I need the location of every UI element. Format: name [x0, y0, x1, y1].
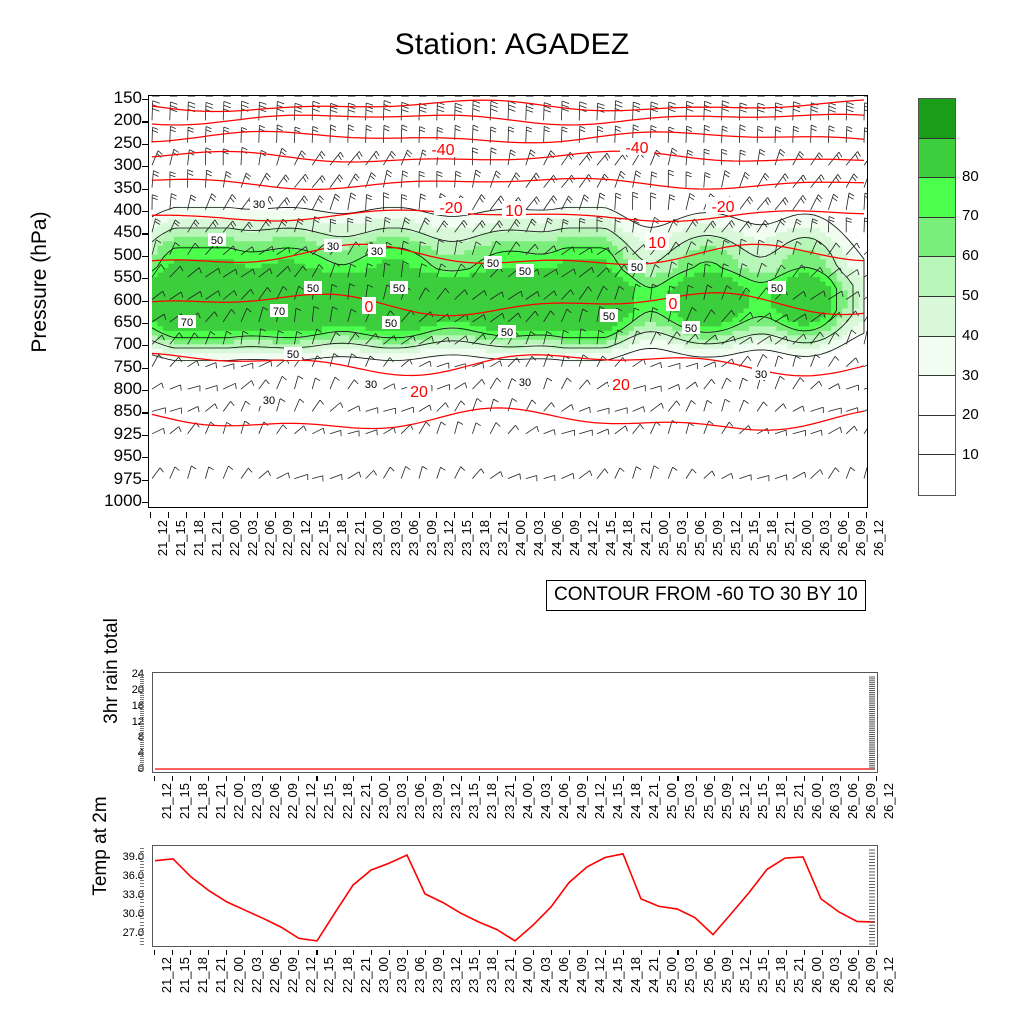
temp-minor-tickmark — [140, 854, 144, 855]
time-tickmark — [401, 512, 402, 518]
time-label-23_21: 23_21 — [502, 783, 517, 819]
time-label-22_09: 22_09 — [285, 957, 300, 993]
temp-minor-tickmark — [140, 851, 144, 852]
time-label-23_18: 23_18 — [484, 783, 499, 819]
rh-contour-label: 70 — [181, 317, 193, 329]
temp-minor-tickmark — [140, 886, 144, 887]
temp-tick-39.0: 39.0 — [108, 851, 144, 863]
time-tickmark — [222, 512, 223, 518]
main-y-axis-ticks: 1502002503003504004505005506006507007508… — [60, 95, 142, 508]
rain-minor-tickmark — [140, 691, 144, 692]
time-label-25_03: 25_03 — [674, 520, 689, 556]
time-label-26_06: 26_06 — [845, 957, 860, 993]
rh-contour-label: 30 — [327, 241, 339, 253]
rh-contour-label: 50 — [307, 283, 319, 295]
temp-minor-tickmark — [140, 896, 144, 897]
rain-panel[interactable] — [152, 672, 878, 773]
rh-contour-label: 50 — [385, 318, 397, 330]
time-tickmark — [190, 950, 191, 955]
time-label-25_06: 25_06 — [701, 957, 716, 993]
rain-minor-tickmark — [140, 709, 144, 710]
time-label-21_18: 21_18 — [195, 783, 210, 819]
rain-minor-tickmark — [140, 719, 144, 720]
temp-minor-tickmark — [140, 880, 144, 881]
rain-minor-tickmark — [140, 677, 144, 678]
colorbar-band-0 — [919, 455, 955, 495]
time-label-23_06: 23_06 — [412, 783, 427, 819]
pressure-tick-550: 550 — [60, 267, 142, 287]
temp-minor-tickmark — [140, 864, 144, 865]
colorbar-band-9 — [919, 99, 955, 139]
time-label-23_03: 23_03 — [394, 783, 409, 819]
cross-section-plot: 3050303050505050507070505050505050303030… — [149, 96, 867, 507]
rain-minor-tickmark — [140, 750, 144, 751]
time-tickmark — [389, 950, 390, 955]
time-tickmark — [569, 776, 570, 781]
time-label-25_12: 25_12 — [737, 783, 752, 819]
time-label-25_21: 25_21 — [791, 783, 806, 819]
temp-minor-tickmark — [140, 918, 144, 919]
time-label-23_21: 23_21 — [495, 520, 510, 556]
time-label-21_15: 21_15 — [177, 957, 192, 993]
time-label-24_00: 24_00 — [513, 520, 528, 556]
temp-minor-tickmark — [140, 941, 144, 942]
rain-minor-tickmark — [140, 715, 144, 716]
colorbar-band-2 — [919, 376, 955, 416]
rain-minor-tickmark — [140, 746, 144, 747]
time-label-25_09: 25_09 — [710, 520, 725, 556]
time-label-22_21: 22_21 — [358, 957, 373, 993]
upper-air-cross-section-panel[interactable]: 3050303050505050507070505050505050303030… — [148, 95, 868, 508]
time-tickmark — [633, 512, 634, 518]
time-label-24_03: 24_03 — [538, 957, 553, 993]
time-label-23_03: 23_03 — [388, 520, 403, 556]
time-tickmark — [768, 950, 769, 955]
colorbar-band-4 — [919, 297, 955, 337]
time-tickmark — [365, 512, 366, 518]
time-tickmark — [244, 950, 245, 955]
time-label-26_06: 26_06 — [835, 520, 850, 556]
time-tickmark — [696, 950, 697, 955]
rain-minor-tickmark — [140, 679, 144, 680]
time-label-22_06: 22_06 — [267, 957, 282, 993]
time-label-25_18: 25_18 — [764, 520, 779, 556]
time-tickmark — [335, 950, 336, 955]
time-label-25_15: 25_15 — [746, 520, 761, 556]
rh-contour-label: 70 — [273, 306, 285, 318]
rain-minor-tickmark — [140, 760, 144, 761]
time-label-22_12: 22_12 — [303, 957, 318, 993]
time-tickmark — [168, 512, 169, 518]
time-label-23_18: 23_18 — [477, 520, 492, 556]
time-label-22_18: 22_18 — [340, 957, 355, 993]
time-label-26_00: 26_00 — [799, 520, 814, 556]
time-tickmark — [280, 776, 281, 781]
temp-minor-tickmark — [140, 925, 144, 926]
time-tickmark — [786, 950, 787, 955]
time-tickmark — [353, 950, 354, 955]
time-label-24_21: 24_21 — [638, 520, 653, 556]
time-label-24_09: 24_09 — [574, 957, 589, 993]
time-label-25_21: 25_21 — [791, 957, 806, 993]
temp-x-axis-labels: 21_1221_1521_1821_2122_0022_0322_0622_09… — [152, 950, 878, 1030]
rh-contour-label: 30 — [263, 395, 275, 407]
time-label-24_15: 24_15 — [603, 520, 618, 556]
time-tickmark — [347, 512, 348, 518]
rain-minor-tickmark — [140, 695, 144, 696]
isotherm-label: -20 — [439, 200, 462, 217]
time-tickmark — [750, 776, 751, 781]
time-label-23_12: 23_12 — [441, 520, 456, 556]
time-tickmark — [240, 512, 241, 518]
time-tickmark — [822, 776, 823, 781]
rh-contour-label: 30 — [519, 377, 531, 389]
time-label-25_15: 25_15 — [755, 957, 770, 993]
colorbar-label-60: 60 — [962, 247, 979, 264]
time-tickmark — [651, 512, 652, 518]
time-tickmark — [714, 950, 715, 955]
rain-minor-tickmark — [140, 721, 144, 722]
time-label-21_15: 21_15 — [173, 520, 188, 556]
time-tickmark — [293, 512, 294, 518]
time-tickmark — [777, 512, 778, 518]
time-label-22_15: 22_15 — [316, 520, 331, 556]
time-label-26_03: 26_03 — [817, 520, 832, 556]
time-tickmark — [677, 776, 678, 781]
colorbar-label-40: 40 — [962, 327, 979, 344]
time-label-21_21: 21_21 — [209, 520, 224, 556]
time-label-22_21: 22_21 — [358, 783, 373, 819]
time-tickmark — [786, 776, 787, 781]
time-tickmark — [804, 776, 805, 781]
isotherm-label: 0 — [669, 296, 678, 313]
rain-plot — [153, 673, 877, 772]
time-tickmark — [329, 512, 330, 518]
rain-minor-tickmark — [140, 730, 144, 731]
time-label-26_12: 26_12 — [881, 957, 896, 993]
time-tickmark — [383, 512, 384, 518]
colorbar-band-3 — [919, 337, 955, 377]
pressure-tick-300: 300 — [60, 155, 142, 175]
time-label-21_12: 21_12 — [159, 957, 174, 993]
pressure-tick-200: 200 — [60, 110, 142, 130]
time-label-26_09: 26_09 — [863, 957, 878, 993]
time-label-23_15: 23_15 — [466, 783, 481, 819]
time-label-22_03: 22_03 — [249, 783, 264, 819]
temp-minor-tickmark — [140, 928, 144, 929]
time-label-24_18: 24_18 — [628, 783, 643, 819]
rain-minor-tickmark — [140, 762, 144, 763]
time-tickmark — [316, 776, 317, 781]
temp-minor-tickmark — [140, 934, 144, 935]
time-tickmark — [822, 950, 823, 955]
rain-minor-tickmark — [140, 685, 144, 686]
rain-x-axis-labels: 21_1221_1521_1821_2122_0022_0322_0622_09… — [152, 776, 878, 856]
time-tickmark — [750, 950, 751, 955]
time-tickmark — [848, 512, 849, 518]
isotherm-label: 10 — [505, 203, 523, 220]
time-tickmark — [515, 950, 516, 955]
rh-contour-label: 50 — [287, 349, 299, 361]
time-label-23_15: 23_15 — [459, 520, 474, 556]
pressure-tick-850: 850 — [60, 401, 142, 421]
time-tickmark — [208, 776, 209, 781]
time-label-24_09: 24_09 — [567, 520, 582, 556]
time-tickmark — [443, 950, 444, 955]
rh-contour-label: 50 — [771, 283, 783, 295]
time-label-23_21: 23_21 — [502, 957, 517, 993]
rh-contour-label: 30 — [755, 369, 767, 381]
time-label-24_12: 24_12 — [585, 520, 600, 556]
rain-minor-tickmark — [140, 689, 144, 690]
time-label-24_12: 24_12 — [592, 783, 607, 819]
time-label-25_00: 25_00 — [656, 520, 671, 556]
time-label-23_00: 23_00 — [376, 783, 391, 819]
pressure-tick-700: 700 — [60, 334, 142, 354]
isotherm-label: -40 — [625, 140, 648, 157]
time-label-23_12: 23_12 — [448, 783, 463, 819]
temp-minor-tickmark — [140, 870, 144, 871]
time-tickmark — [479, 776, 480, 781]
colorbar-label-80: 80 — [962, 168, 979, 185]
temp-minor-tickmark — [140, 944, 144, 945]
rain-minor-tickmark — [140, 766, 144, 767]
time-tickmark — [858, 950, 859, 955]
colorbar-band-1 — [919, 416, 955, 456]
time-label-22_03: 22_03 — [245, 520, 260, 556]
time-tickmark — [497, 950, 498, 955]
temp-tick-33.0: 33.0 — [108, 889, 144, 901]
time-tickmark — [544, 512, 545, 518]
time-tickmark — [172, 950, 173, 955]
time-tickmark — [741, 512, 742, 518]
time-label-25_18: 25_18 — [773, 957, 788, 993]
temp-minor-tickmark — [140, 858, 144, 859]
time-tickmark — [551, 776, 552, 781]
time-tickmark — [759, 512, 760, 518]
pressure-tick-400: 400 — [60, 200, 142, 220]
rain-minor-tickmark — [140, 728, 144, 729]
time-tickmark — [407, 950, 408, 955]
time-tickmark — [190, 776, 191, 781]
rain-minor-tickmark — [140, 681, 144, 682]
time-label-22_09: 22_09 — [285, 783, 300, 819]
time-label-22_09: 22_09 — [280, 520, 295, 556]
temp-minor-tickmark — [140, 874, 144, 875]
humidity-colorbar — [918, 98, 956, 496]
time-tickmark — [659, 776, 660, 781]
rain-minor-tickmark — [140, 732, 144, 733]
time-label-24_00: 24_00 — [520, 783, 535, 819]
time-tickmark — [257, 512, 258, 518]
time-tickmark — [794, 512, 795, 518]
rh-contour-label: 50 — [631, 262, 643, 274]
rain-minor-tickmark — [140, 748, 144, 749]
rain-minor-tickmark — [140, 752, 144, 753]
colorbar-label-30: 30 — [962, 367, 979, 384]
temp-minor-tickmark — [140, 893, 144, 894]
time-label-23_00: 23_00 — [376, 957, 391, 993]
rh-contour-label: 50 — [685, 323, 697, 335]
temp-minor-tickmark — [140, 877, 144, 878]
time-tickmark — [696, 776, 697, 781]
time-tickmark — [669, 512, 670, 518]
time-tickmark — [876, 950, 877, 955]
rain-minor-tickmark — [140, 717, 144, 718]
time-tickmark — [479, 950, 480, 955]
time-label-23_06: 23_06 — [412, 957, 427, 993]
pressure-tick-950: 950 — [60, 446, 142, 466]
time-label-22_06: 22_06 — [262, 520, 277, 556]
time-tickmark — [508, 512, 509, 518]
temp-panel[interactable] — [152, 845, 878, 947]
rain-minor-tickmark — [140, 754, 144, 755]
time-label-22_03: 22_03 — [249, 957, 264, 993]
time-tickmark — [454, 512, 455, 518]
time-tickmark — [768, 776, 769, 781]
time-label-26_00: 26_00 — [809, 783, 824, 819]
rain-minor-tickmark — [140, 734, 144, 735]
rain-minor-tickmark — [140, 723, 144, 724]
rain-minor-tickmark — [140, 713, 144, 714]
time-tickmark — [732, 950, 733, 955]
rh-contour-label: 50 — [393, 283, 405, 295]
pressure-tick-500: 500 — [60, 245, 142, 265]
time-tickmark — [840, 776, 841, 781]
time-tickmark — [580, 512, 581, 518]
colorbar-band-5 — [919, 257, 955, 297]
time-label-21_18: 21_18 — [195, 957, 210, 993]
rain-minor-tickmark — [140, 764, 144, 765]
time-label-25_21: 25_21 — [782, 520, 797, 556]
temp-minor-tickmark — [140, 867, 144, 868]
time-label-21_21: 21_21 — [213, 783, 228, 819]
time-label-25_15: 25_15 — [755, 783, 770, 819]
time-label-25_12: 25_12 — [737, 957, 752, 993]
pressure-tick-925: 925 — [60, 424, 142, 444]
time-label-22_00: 22_00 — [231, 957, 246, 993]
time-tickmark — [705, 512, 706, 518]
time-label-24_12: 24_12 — [592, 957, 607, 993]
time-label-25_12: 25_12 — [728, 520, 743, 556]
time-label-26_00: 26_00 — [809, 957, 824, 993]
temp-plot — [153, 846, 877, 946]
page-title: Station: AGADEZ — [0, 28, 1024, 62]
time-label-21_12: 21_12 — [155, 520, 170, 556]
rain-minor-tickmark — [140, 726, 144, 727]
temp-tick-27.0: 27.0 — [108, 927, 144, 939]
rain-minor-tickmark — [140, 711, 144, 712]
time-label-24_15: 24_15 — [610, 783, 625, 819]
time-label-22_12: 22_12 — [303, 783, 318, 819]
time-tickmark — [461, 950, 462, 955]
time-tickmark — [804, 950, 805, 955]
rain-minor-tickmark — [140, 740, 144, 741]
rain-minor-tickmark — [140, 683, 144, 684]
time-label-25_03: 25_03 — [682, 783, 697, 819]
time-tickmark — [623, 776, 624, 781]
time-tickmark — [659, 950, 660, 955]
time-label-22_06: 22_06 — [267, 783, 282, 819]
main-y-axis-label: Pressure (hPa) — [28, 102, 52, 462]
time-tickmark — [497, 776, 498, 781]
time-label-22_12: 22_12 — [298, 520, 313, 556]
time-label-26_03: 26_03 — [827, 783, 842, 819]
time-label-24_00: 24_00 — [520, 957, 535, 993]
time-tickmark — [389, 776, 390, 781]
colorbar-band-7 — [919, 178, 955, 218]
temp-minor-tickmark — [140, 899, 144, 900]
rain-minor-tickmark — [140, 724, 144, 725]
time-tickmark — [472, 512, 473, 518]
temp-minor-tickmark — [140, 883, 144, 884]
time-label-23_00: 23_00 — [370, 520, 385, 556]
time-tickmark — [298, 950, 299, 955]
time-tickmark — [876, 776, 877, 781]
time-tickmark — [641, 950, 642, 955]
time-label-24_06: 24_06 — [556, 957, 571, 993]
temp-minor-tickmark — [140, 912, 144, 913]
temp-minor-tickmark — [140, 938, 144, 939]
rain-minor-tickmark — [140, 707, 144, 708]
time-label-25_00: 25_00 — [664, 957, 679, 993]
time-label-25_03: 25_03 — [682, 957, 697, 993]
rain-minor-tickmark — [140, 758, 144, 759]
temp-minor-tickmark — [140, 861, 144, 862]
time-label-25_00: 25_00 — [664, 783, 679, 819]
time-tickmark — [154, 776, 155, 781]
pressure-tick-600: 600 — [60, 290, 142, 310]
time-tickmark — [533, 776, 534, 781]
time-label-25_06: 25_06 — [692, 520, 707, 556]
time-label-24_15: 24_15 — [610, 957, 625, 993]
time-tickmark — [562, 512, 563, 518]
rain-minor-tickmark — [140, 705, 144, 706]
rain-minor-tickmark — [140, 697, 144, 698]
rain-minor-tickmark — [140, 738, 144, 739]
temp-minor-tickmark — [140, 902, 144, 903]
colorbar-band-6 — [919, 218, 955, 258]
time-tickmark — [732, 776, 733, 781]
time-tickmark — [150, 512, 151, 518]
time-tickmark — [425, 776, 426, 781]
temp-minor-tickmark — [140, 915, 144, 916]
rain-minor-tickmark — [140, 693, 144, 694]
time-label-26_09: 26_09 — [853, 520, 868, 556]
time-label-23_09: 23_09 — [424, 520, 439, 556]
time-label-24_18: 24_18 — [620, 520, 635, 556]
pressure-tick-250: 250 — [60, 133, 142, 153]
time-label-24_06: 24_06 — [556, 783, 571, 819]
time-label-22_00: 22_00 — [227, 520, 242, 556]
rain-minor-tickmark — [140, 701, 144, 702]
time-tickmark — [858, 776, 859, 781]
time-tickmark — [490, 512, 491, 518]
rain-minor-tickmark — [140, 736, 144, 737]
time-tickmark — [275, 512, 276, 518]
isotherm-label: 10 — [648, 235, 666, 252]
colorbar-label-10: 10 — [962, 446, 979, 463]
colorbar-label-50: 50 — [962, 287, 979, 304]
time-label-24_21: 24_21 — [646, 783, 661, 819]
temp-minor-tickmark — [140, 890, 144, 891]
time-tickmark — [605, 776, 606, 781]
time-label-24_21: 24_21 — [646, 957, 661, 993]
time-label-23_03: 23_03 — [394, 957, 409, 993]
colorbar-label-70: 70 — [962, 207, 979, 224]
temp-minor-tickmark — [140, 922, 144, 923]
time-tickmark — [623, 950, 624, 955]
